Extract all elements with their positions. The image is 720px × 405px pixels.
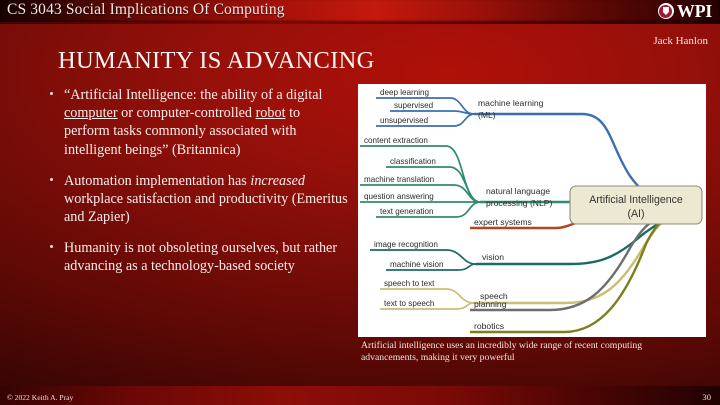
leaf-label-machine-vision: machine vision	[390, 260, 444, 269]
inline-link[interactable]: computer	[64, 105, 118, 121]
header-underline	[0, 22, 720, 24]
page-number: 30	[702, 392, 711, 402]
bullet-list: “Artificial Intelligence: the ability of…	[48, 86, 348, 289]
text-run: “Artificial Intelligence: the ability of…	[64, 87, 322, 103]
hub-label-nlp: natural language	[486, 186, 550, 196]
leaf-label-supervised: supervised	[394, 101, 433, 110]
text-run: or computer-controlled	[118, 105, 256, 121]
leaf-label-content-extraction: content extraction	[364, 136, 428, 145]
leaf-label-machine-translation: machine translation	[364, 175, 434, 184]
list-item: “Artificial Intelligence: the ability of…	[48, 86, 348, 159]
leaf-label-deep-learning: deep learning	[380, 88, 429, 97]
bullet-dot-icon	[50, 245, 53, 248]
text-run: workplace satisfaction and productivity …	[64, 191, 348, 225]
hub-label-planning: planning	[474, 299, 507, 309]
ai-mindmap-diagram: deep learning supervised unsupervised ma…	[358, 84, 706, 337]
list-item: Automation implementation has increased …	[48, 172, 348, 227]
hub-label-machine-learning-line2: (ML)	[478, 110, 496, 120]
text-run: Humanity is not obsoleting ourselves, bu…	[64, 240, 337, 274]
leaf-label-speech-to-text: speech to text	[384, 279, 435, 288]
leaf-label-text-to-speech: text to speech	[384, 299, 434, 308]
course-title: CS 3043 Social Implications Of Computing	[7, 1, 285, 19]
bullet-dot-icon	[50, 178, 53, 181]
text-run: Automation implementation has	[64, 173, 250, 189]
leaf-label-unsupervised: unsupervised	[380, 116, 428, 125]
hub-label-expert-systems: expert systems	[474, 217, 532, 227]
leaf-label-classification: classification	[390, 157, 436, 166]
leaf-label-text-generation: text generation	[380, 207, 434, 216]
root-node-ai: Artificial Intelligence (AI)	[570, 186, 702, 224]
list-item: Humanity is not obsoleting ourselves, bu…	[48, 239, 348, 275]
wpi-logo-text: WPI	[677, 2, 712, 20]
bullet-text: Humanity is not obsoleting ourselves, bu…	[64, 240, 337, 274]
leaf-line-supervised	[390, 111, 474, 114]
bullet-dot-icon	[50, 92, 53, 95]
ai-node-label-line2: (AI)	[627, 208, 644, 220]
slide-title: HUMANITY IS ADVANCING	[58, 47, 375, 75]
ai-node-label-line1: Artificial Intelligence	[589, 194, 683, 206]
inline-link[interactable]: robot	[256, 105, 286, 121]
bullet-text: Automation implementation has increased …	[64, 173, 348, 225]
hub-label-machine-learning: machine learning	[478, 98, 544, 108]
hub-label-robotics: robotics	[474, 321, 504, 331]
slide-footer-band	[0, 386, 720, 405]
leaf-label-question-answering: question answering	[364, 192, 434, 201]
emphasis-text: increased	[250, 173, 305, 189]
copyright-text: © 2022 Keith A. Pray	[7, 393, 73, 402]
diagram-caption: Artificial intelligence uses an incredib…	[361, 340, 701, 364]
hub-label-vision: vision	[482, 252, 504, 262]
branch-expert-systems: expert systems	[470, 217, 580, 228]
wpi-logo: WPI	[658, 0, 712, 22]
leaf-label-image-recognition: image recognition	[374, 240, 438, 249]
hub-label-nlp-line2: processing (NLP)	[486, 198, 553, 208]
wpi-seal-icon	[658, 3, 674, 19]
bullet-text: “Artificial Intelligence: the ability of…	[64, 87, 322, 158]
presentation-slide: CS 3043 Social Implications Of Computing…	[0, 0, 720, 405]
presenter-name: Jack Hanlon	[653, 35, 708, 47]
